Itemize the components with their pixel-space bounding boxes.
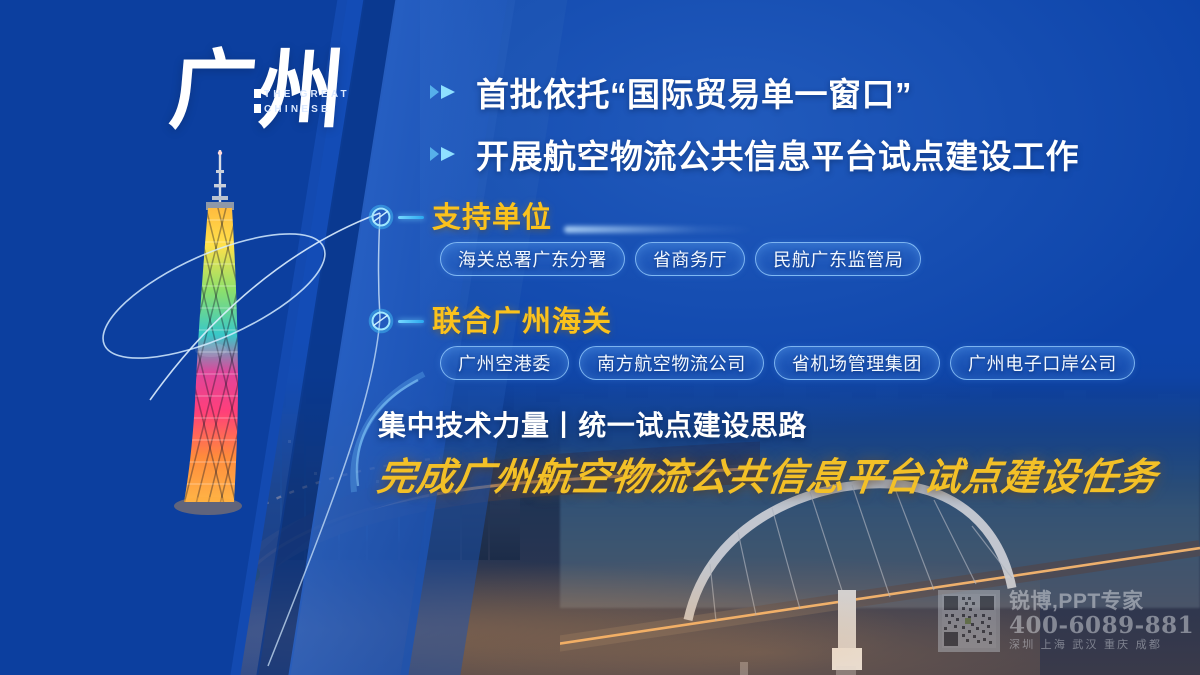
headline-block: 首批依托“国际贸易单一窗口” 开展航空物流公共信息平台试点建设工作	[428, 66, 1168, 180]
section-2-title: 联合广州海关	[432, 298, 612, 340]
pill-item[interactable]: 海关总署广东分署	[440, 242, 625, 276]
double-chevron-right-icon-2	[428, 145, 458, 163]
slide-canvas: 广州 THE GREAT CHINESE 首批依托“国际贸易单一窗口” 开展航空…	[0, 0, 1200, 675]
glowing-ring-node-icon	[368, 204, 394, 230]
headline-line-1: 首批依托“国际贸易单一窗口”	[476, 68, 912, 116]
headline-line-2: 开展航空物流公共信息平台试点建设工作	[476, 130, 1079, 178]
watermark-brand: 锐博,PPT专家	[1009, 591, 1194, 613]
logo-bar-decoration-2	[254, 104, 261, 113]
logo-english-line1: THE GREAT	[264, 89, 350, 100]
pill-item[interactable]: 广州空港委	[440, 346, 569, 380]
watermark-block: 锐博,PPT专家 400-6089-881 深圳 上海 武汉 重庆 成都	[938, 590, 1196, 668]
section-1-pill-list: 海关总署广东分署 省商务厅 民航广东监管局	[440, 242, 921, 276]
qr-code-icon	[938, 590, 1000, 652]
logo-bar-decoration	[254, 89, 261, 98]
logo-english-text: THE GREAT CHINESE	[254, 88, 350, 117]
headline-row-2: 开展航空物流公共信息平台试点建设工作	[428, 128, 1168, 180]
glowing-ring-node-icon	[368, 308, 394, 334]
slogan-gold-calligraphy: 完成广州航空物流公共信息平台试点建设任务	[375, 446, 1162, 501]
section-joint-customs: 联合广州海关 广州空港委 南方航空物流公司 省机场管理集团 广州电子口岸公司	[368, 300, 1135, 380]
section-1-header: 支持单位	[368, 196, 921, 238]
section-supporting-units: 支持单位 海关总署广东分署 省商务厅 民航广东监管局	[368, 196, 921, 276]
pill-item[interactable]: 民航广东监管局	[755, 242, 921, 276]
watermark-cities: 深圳 上海 武汉 重庆 成都	[1009, 638, 1194, 652]
watermark-text-group: 锐博,PPT专家 400-6089-881 深圳 上海 武汉 重庆 成都	[1009, 590, 1194, 653]
section-2-header: 联合广州海关	[368, 300, 1135, 342]
watermark-phone: 400-6089-881	[1009, 613, 1194, 638]
slogan-white: 集中技术力量丨统一试点建设思路	[378, 404, 807, 444]
logo-english-line2: CHINESE	[264, 104, 331, 115]
headline-row-1: 首批依托“国际贸易单一窗口”	[428, 66, 1168, 118]
pill-item[interactable]: 省机场管理集团	[774, 346, 940, 380]
guangzhou-logo: 广州 THE GREAT CHINESE	[170, 40, 370, 190]
pill-item[interactable]: 南方航空物流公司	[579, 346, 764, 380]
section-2-connector-line	[398, 320, 424, 323]
pill-item[interactable]: 省商务厅	[635, 242, 745, 276]
section-1-title: 支持单位	[432, 194, 552, 236]
section-2-pill-list: 广州空港委 南方航空物流公司 省机场管理集团 广州电子口岸公司	[440, 346, 1135, 380]
pill-item[interactable]: 广州电子口岸公司	[950, 346, 1135, 380]
section-1-title-glow	[564, 226, 754, 233]
double-chevron-right-icon	[428, 83, 458, 101]
section-1-connector-line	[398, 216, 424, 219]
